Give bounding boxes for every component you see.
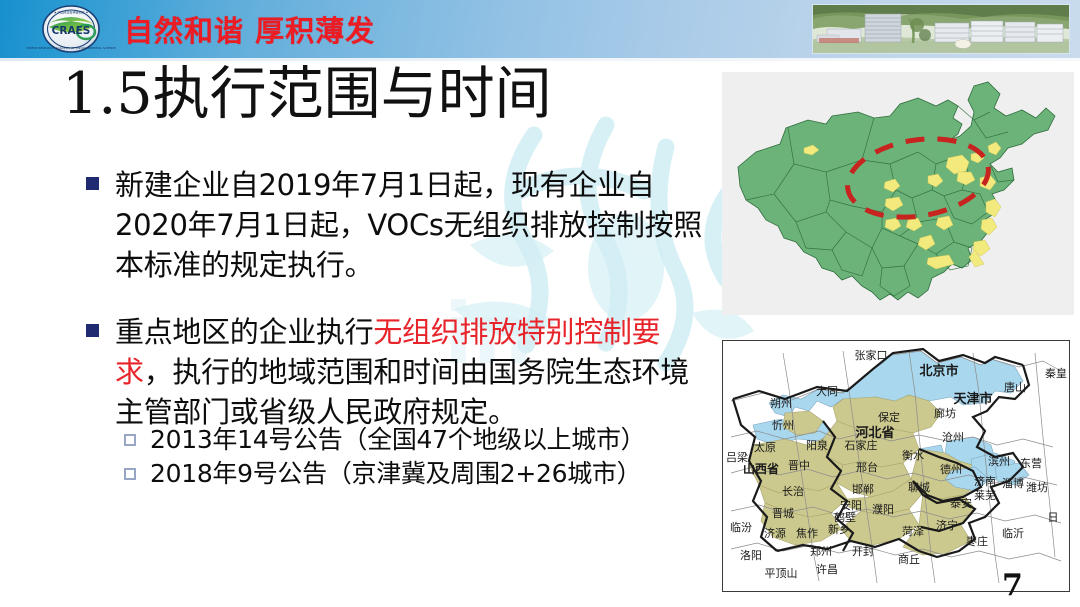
square-bullet-icon bbox=[86, 177, 99, 190]
bullet-2-segment-3: ，执行的地域范围和时间由国务院生态环境主管部门或省级人民政府规定。 bbox=[115, 355, 689, 429]
bullet-item-2: 重点地区的企业执行无组织排放特别控制要求，执行的地域范围和时间由国务院生态环境主… bbox=[86, 312, 715, 432]
sub-bullet-item-2: 2018年9号公告（京津冀及周围2+26城市） bbox=[124, 457, 641, 491]
bullet-text-1: 新建企业自2019年7月1日起，现有企业自2020年7月1日起，VOCs无组织排… bbox=[115, 165, 715, 285]
page-number: 7 bbox=[1002, 568, 1023, 603]
sub-bullet-item-1: 2013年14号公告（全国47个地级以上城市） bbox=[124, 423, 645, 457]
hollow-square-bullet-icon bbox=[124, 434, 136, 446]
bullet-item-1: 新建企业自2019年7月1日起，现有企业自2020年7月1日起，VOCs无组织排… bbox=[86, 165, 715, 285]
hollow-square-bullet-icon bbox=[124, 468, 136, 480]
square-bullet-icon bbox=[86, 324, 99, 337]
bullet-1-segment-1: 新建企业自2019年7月1日起，现有企业自2020年7月1日起，VOCs无组织排… bbox=[115, 168, 702, 282]
bullet-2-segment-1: 重点地区的企业执行 bbox=[115, 315, 373, 349]
page-title: 1.5执行范围与时间 bbox=[62, 66, 552, 123]
sub-bullet-text-1: 2013年14号公告（全国47个地级以上城市） bbox=[150, 423, 645, 457]
sub-bullet-text-2: 2018年9号公告（京津冀及周围2+26城市） bbox=[150, 457, 641, 491]
bullet-text-2: 重点地区的企业执行无组织排放特别控制要求，执行的地域范围和时间由国务院生态环境主… bbox=[115, 312, 715, 432]
